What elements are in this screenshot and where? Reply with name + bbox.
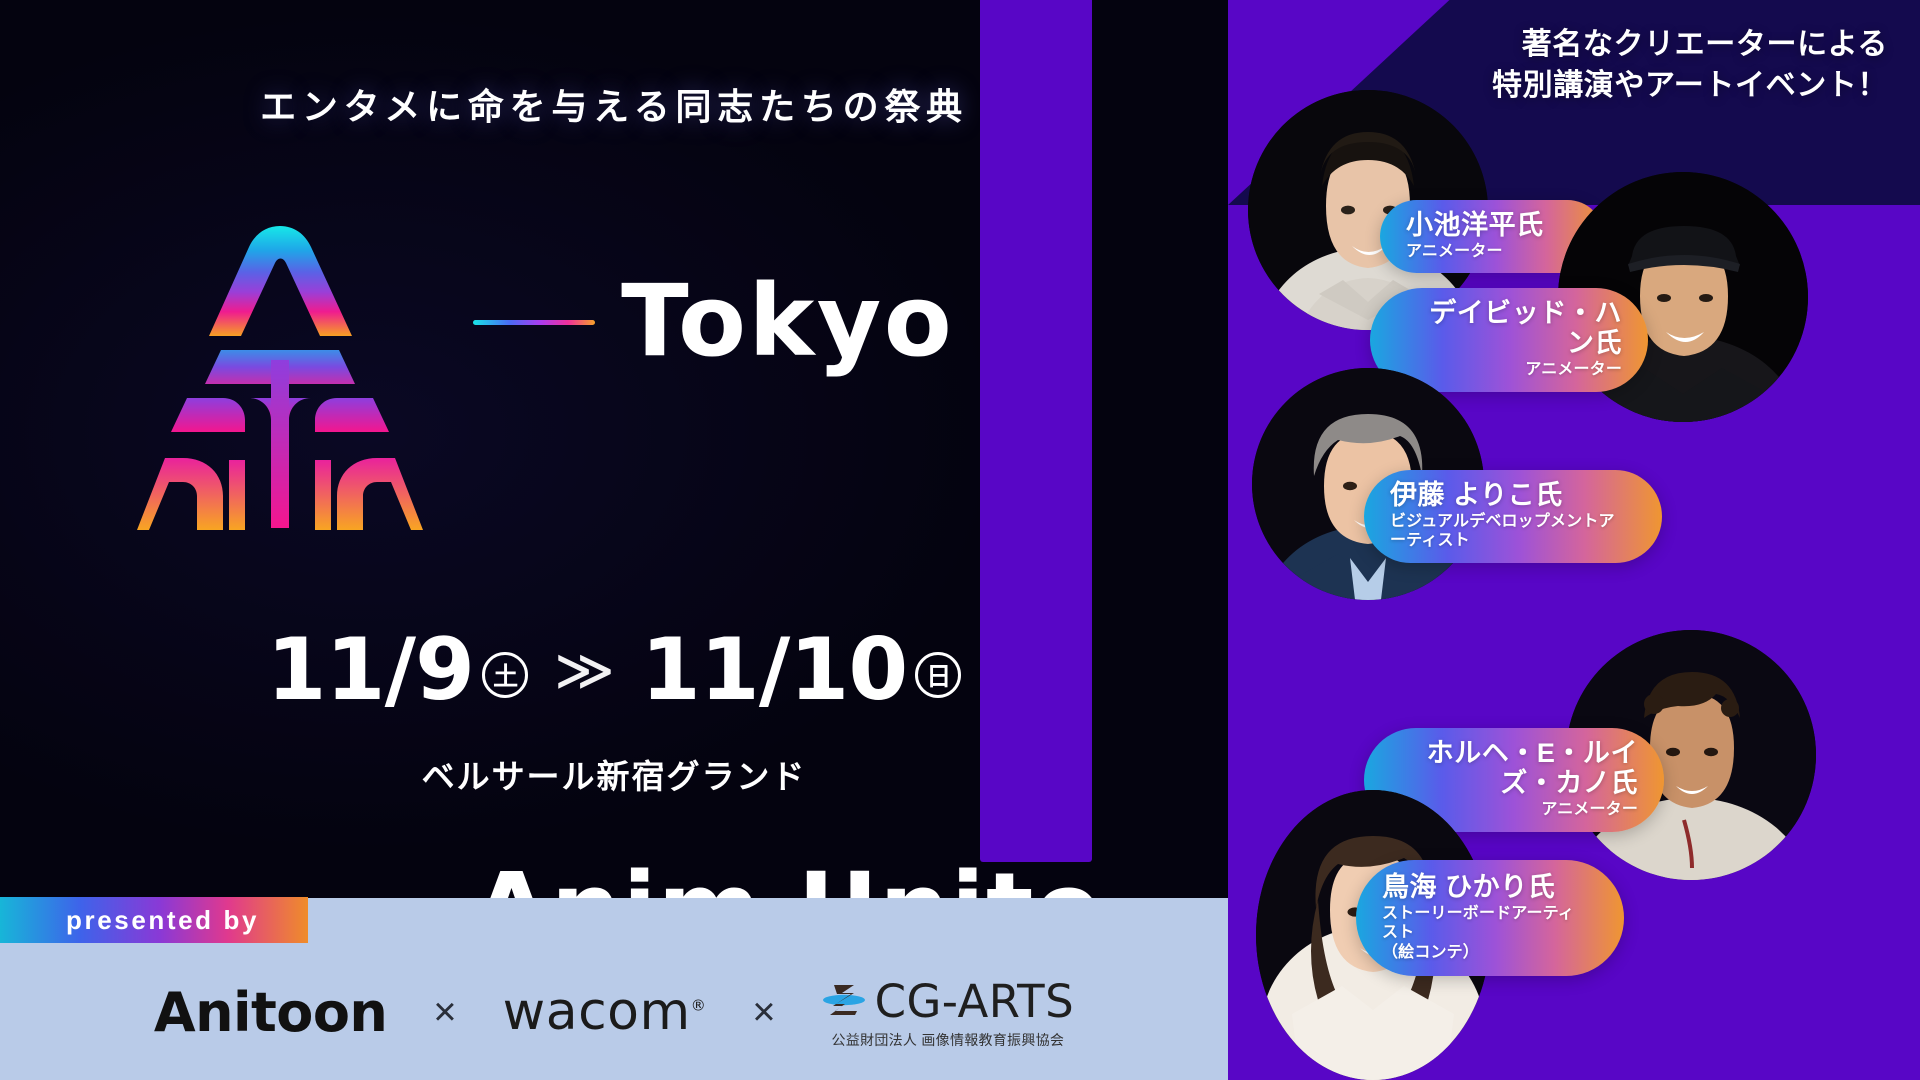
right-header-line1: 著名なクリエーターによる — [1492, 24, 1888, 65]
speaker-pill-3: 伊藤 よりこ氏 ビジュアルデベロップメントアーティスト — [1364, 470, 1662, 563]
speaker-name-1: 小池洋平氏 — [1406, 210, 1570, 240]
date-start-dow: 土 — [482, 652, 528, 698]
sponsor-logo-cgarts: CG-ARTS 公益財団法人 画像情報教育振興協会 — [822, 975, 1075, 1050]
right-header-line2: 特別講演やアートイベント！ — [1492, 65, 1888, 106]
speaker-role-1: アニメーター — [1406, 242, 1570, 261]
wordmark-line1: Tokyo — [621, 274, 954, 370]
sponsor-logo-anitoon: Anitoon — [154, 981, 387, 1044]
event-dates: 11/9土 ≫ 11/10日 — [0, 620, 1228, 720]
tokyo-anim-unite-mark-icon — [125, 210, 435, 530]
sponsor-logo-wacom: wacom® — [503, 982, 707, 1042]
sponsor-strip: presented by Anitoon × wacom® × CG-ARTS … — [0, 898, 1228, 1080]
speaker-role-3: ビジュアルデベロップメントアーティスト — [1390, 512, 1628, 550]
gradient-rule-left — [473, 320, 595, 325]
presented-by-badge: presented by — [0, 897, 308, 943]
speaker-name-2: デイビッド・ハン氏 — [1404, 298, 1622, 358]
speaker-name-3: 伊藤 よりこ氏 — [1390, 480, 1628, 510]
sponsor-separator-2: × — [752, 990, 775, 1035]
logo-block: Tokyo Anim Unite — [0, 205, 1228, 535]
wordmark: Tokyo Anim Unite — [473, 0, 1103, 958]
date-end: 11/10日 — [641, 620, 961, 720]
speaker-pill-5: 鳥海 ひかり氏 ストーリーボードアーティスト （絵コンテ） — [1356, 860, 1624, 976]
speaker-role-2: アニメーター — [1525, 360, 1622, 379]
speaker-name-5: 鳥海 ひかり氏 — [1382, 872, 1590, 902]
sponsor-separator-1: × — [433, 990, 456, 1035]
date-end-dow: 日 — [915, 652, 961, 698]
left-panel: エンタメに命を与える同志たちの祭典 — [0, 0, 1228, 1080]
cgarts-subtitle: 公益財団法人 画像情報教育振興協会 — [832, 1030, 1065, 1050]
cgarts-emblem-icon — [822, 981, 866, 1021]
gradient-rule-right — [980, 0, 1092, 862]
speaker-role-4: アニメーター — [1541, 800, 1638, 819]
sponsor-logos: Anitoon × wacom® × CG-ARTS 公益財団法人 画像情報教育… — [0, 944, 1228, 1080]
speaker-role-5: ストーリーボードアーティスト （絵コンテ） — [1382, 904, 1590, 962]
cgarts-name: CG-ARTS — [875, 975, 1075, 1028]
date-start: 11/9土 — [267, 620, 529, 720]
right-header: 著名なクリエーターによる 特別講演やアートイベント！ — [1492, 24, 1888, 107]
speaker-name-4: ホルヘ・E・ルイズ・カノ氏 — [1398, 738, 1638, 798]
date-separator-icon: ≫ — [554, 636, 615, 704]
venue: ベルサール新宿グランド — [0, 750, 1228, 798]
right-panel: 著名なクリエーターによる 特別講演やアートイベント！ — [1228, 0, 1920, 1080]
event-poster: エンタメに命を与える同志たちの祭典 — [0, 0, 1920, 1080]
